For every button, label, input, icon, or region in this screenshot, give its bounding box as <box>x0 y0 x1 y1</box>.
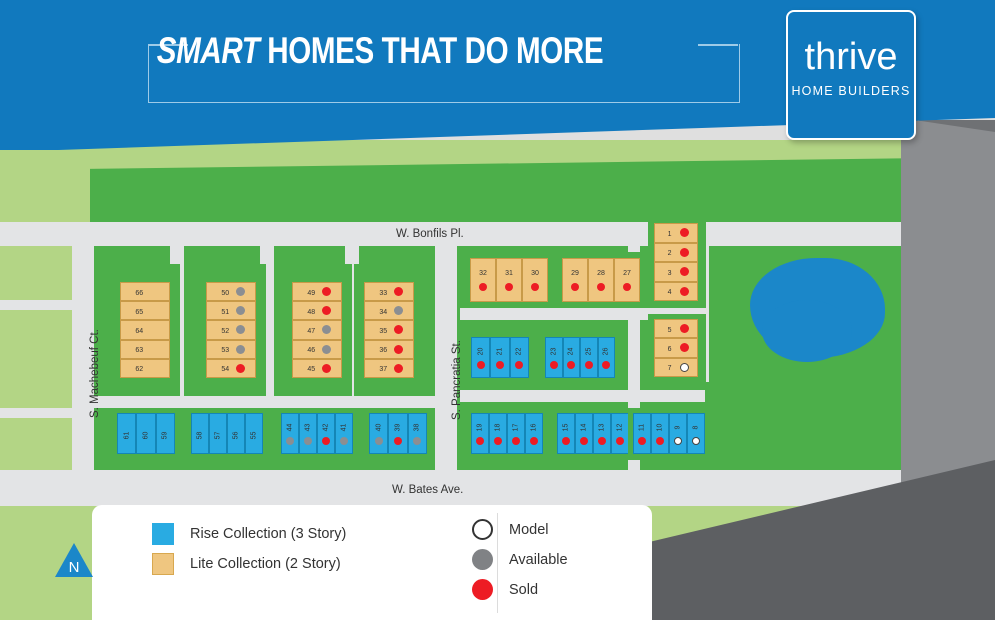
lot-number-33: 33 <box>379 290 387 297</box>
lot-7[interactable]: 7 <box>654 358 698 377</box>
lot-block-e: 323130 <box>464 252 554 308</box>
legend-item-sold: Sold <box>472 579 538 600</box>
alley-west-2 <box>0 408 74 418</box>
alley-6 <box>460 390 705 402</box>
lot-status-sold-48 <box>322 306 331 315</box>
lot-number-14: 14 <box>581 424 588 432</box>
lot-59[interactable]: 59 <box>156 413 175 454</box>
lot-number-35: 35 <box>379 328 387 335</box>
lot-number-66: 66 <box>135 290 143 297</box>
lot-number-45: 45 <box>307 366 315 373</box>
lot-number-58: 58 <box>197 431 204 439</box>
lot-number-60: 60 <box>142 431 149 439</box>
lot-14[interactable]: 14 <box>575 413 593 454</box>
lot-number-24: 24 <box>568 348 575 356</box>
lot-34[interactable]: 34 <box>364 301 414 320</box>
lot-number-1: 1 <box>668 231 672 238</box>
lot-47[interactable]: 47 <box>292 320 342 339</box>
lot-number-17: 17 <box>513 424 520 432</box>
lot-block-l: 58575655 <box>186 408 268 460</box>
lot-number-16: 16 <box>531 424 538 432</box>
alley-4 <box>88 396 438 408</box>
street-label-bates: W. Bates Ave. <box>392 484 463 496</box>
lot-block-k: 616059 <box>112 408 180 460</box>
lot-number-44: 44 <box>287 424 294 432</box>
lot-63[interactable]: 63 <box>120 340 170 359</box>
lot-56[interactable]: 56 <box>227 413 245 454</box>
lot-52[interactable]: 52 <box>206 320 256 339</box>
lot-status-sold-42 <box>322 437 330 445</box>
lot-number-46: 46 <box>307 347 315 354</box>
lot-status-sold-15 <box>562 437 570 445</box>
lot-11[interactable]: 11 <box>633 413 651 454</box>
lot-status-sold-22 <box>515 361 523 369</box>
lot-30[interactable]: 30 <box>522 258 548 302</box>
lot-block-q: 111098 <box>628 408 710 460</box>
lot-block-j: 23242526 <box>540 332 620 384</box>
lot-status-sold-5 <box>680 324 689 333</box>
lot-status-sold-32 <box>479 283 487 291</box>
lot-26[interactable]: 26 <box>598 337 616 378</box>
lot-number-2: 2 <box>668 250 672 257</box>
lot-column-d: 3334353637 <box>364 282 414 378</box>
lot-block-c: 4948474645 <box>282 264 352 396</box>
lot-status-avail-41 <box>340 437 348 445</box>
road-bonfils <box>0 222 930 246</box>
lot-status-sold-28 <box>597 283 605 291</box>
lot-number-15: 15 <box>563 424 570 432</box>
lot-5[interactable]: 5 <box>654 319 698 338</box>
lot-number-9: 9 <box>675 426 682 430</box>
lot-1[interactable]: 1 <box>654 223 698 243</box>
lot-status-sold-13 <box>598 437 606 445</box>
lot-4[interactable]: 4 <box>654 282 698 302</box>
lot-number-3: 3 <box>668 270 672 277</box>
lot-36[interactable]: 36 <box>364 340 414 359</box>
lot-27[interactable]: 27 <box>614 258 640 302</box>
page-title: SMART HOMES THAT DO MORE <box>76 30 684 72</box>
legend-item-model: Model <box>472 519 549 540</box>
legend-item-lite: Lite Collection (2 Story) <box>152 553 341 575</box>
lot-29[interactable]: 29 <box>562 258 588 302</box>
lot-status-sold-29 <box>571 283 579 291</box>
lot-32[interactable]: 32 <box>470 258 496 302</box>
lot-status-avail-38 <box>413 437 421 445</box>
lot-20[interactable]: 20 <box>471 337 490 378</box>
lot-block-n: 403938 <box>364 408 432 460</box>
lot-number-20: 20 <box>477 348 484 356</box>
site-map: W. Bonfils Pl. W. Bates Ave. S. Machebeu… <box>0 0 995 620</box>
lot-40[interactable]: 40 <box>369 413 388 454</box>
available-label: Available <box>509 552 568 568</box>
lot-31[interactable]: 31 <box>496 258 522 302</box>
lot-12[interactable]: 12 <box>611 413 629 454</box>
title-rule-right <box>698 44 738 46</box>
lot-number-40: 40 <box>375 424 382 432</box>
lot-number-55: 55 <box>251 431 258 439</box>
lot-status-sold-11 <box>638 437 646 445</box>
lot-24[interactable]: 24 <box>563 337 581 378</box>
lot-block-a: 6665646362 <box>110 264 180 396</box>
lot-status-sold-17 <box>512 437 520 445</box>
page-title-rest: HOMES THAT DO MORE <box>259 30 603 71</box>
lot-number-13: 13 <box>599 424 606 432</box>
sold-dot-icon <box>472 579 493 600</box>
lot-column-h: 567 <box>654 319 698 377</box>
lot-33[interactable]: 33 <box>364 282 414 301</box>
lot-number-26: 26 <box>603 348 610 356</box>
lot-status-sold-31 <box>505 283 513 291</box>
lot-status-model-9 <box>674 437 682 445</box>
lot-number-61: 61 <box>123 431 130 439</box>
lot-status-sold-39 <box>394 437 402 445</box>
lot-38[interactable]: 38 <box>408 413 427 454</box>
lot-row-j: 23242526 <box>545 337 615 378</box>
lot-row-n: 403938 <box>369 413 427 454</box>
lot-66[interactable]: 66 <box>120 282 170 301</box>
lot-status-avail-46 <box>322 345 331 354</box>
lot-55[interactable]: 55 <box>245 413 263 454</box>
lot-block-g: 1234 <box>648 218 706 308</box>
lot-number-34: 34 <box>379 309 387 316</box>
street-label-pancratia: S. Pancratia St. <box>451 340 463 420</box>
lot-54[interactable]: 54 <box>206 359 256 378</box>
lot-number-38: 38 <box>414 424 421 432</box>
lot-row-k: 616059 <box>117 413 175 454</box>
lot-2[interactable]: 2 <box>654 243 698 263</box>
lot-number-30: 30 <box>531 270 539 277</box>
lot-8[interactable]: 8 <box>687 413 705 454</box>
lot-37[interactable]: 37 <box>364 359 414 378</box>
lot-number-47: 47 <box>307 328 315 335</box>
lot-status-sold-54 <box>236 364 245 373</box>
lot-status-avail-44 <box>286 437 294 445</box>
lot-status-sold-30 <box>531 283 539 291</box>
lot-49[interactable]: 49 <box>292 282 342 301</box>
lot-19[interactable]: 19 <box>471 413 489 454</box>
lot-number-8: 8 <box>693 426 700 430</box>
lot-status-sold-16 <box>530 437 538 445</box>
lot-6[interactable]: 6 <box>654 338 698 357</box>
lot-row-q: 111098 <box>633 413 705 454</box>
lot-39[interactable]: 39 <box>388 413 407 454</box>
available-dot-icon <box>472 549 493 570</box>
alley-west-1 <box>0 300 74 310</box>
lot-column-g: 1234 <box>654 223 698 301</box>
lot-status-sold-4 <box>680 287 689 296</box>
lot-number-7: 7 <box>668 365 672 372</box>
lot-58[interactable]: 58 <box>191 413 209 454</box>
lot-status-sold-18 <box>494 437 502 445</box>
lot-number-12: 12 <box>617 424 624 432</box>
lot-status-sold-49 <box>322 287 331 296</box>
lot-53[interactable]: 53 <box>206 340 256 359</box>
lot-status-sold-35 <box>394 325 403 334</box>
lot-number-62: 62 <box>135 366 143 373</box>
lot-row-e: 323130 <box>470 258 548 302</box>
pond-water-lobe <box>762 300 852 362</box>
lot-21[interactable]: 21 <box>490 337 509 378</box>
lot-60[interactable]: 60 <box>136 413 155 454</box>
lot-status-sold-25 <box>585 361 593 369</box>
lot-42[interactable]: 42 <box>317 413 335 454</box>
lot-28[interactable]: 28 <box>588 258 614 302</box>
lot-number-41: 41 <box>341 424 348 432</box>
lot-number-56: 56 <box>233 431 240 439</box>
lot-column-a: 6665646362 <box>120 282 170 378</box>
lot-row-p: 15141312 <box>557 413 629 454</box>
lot-block-p: 15141312 <box>552 408 634 460</box>
lot-number-19: 19 <box>477 424 484 432</box>
lot-status-sold-14 <box>580 437 588 445</box>
lot-number-49: 49 <box>307 290 315 297</box>
lot-number-52: 52 <box>221 328 229 335</box>
lot-status-avail-47 <box>322 325 331 334</box>
lite-collection-swatch <box>152 553 174 575</box>
lot-18[interactable]: 18 <box>489 413 507 454</box>
rise-collection-swatch <box>152 523 174 545</box>
lot-number-4: 4 <box>668 289 672 296</box>
lot-9[interactable]: 9 <box>669 413 687 454</box>
lot-25[interactable]: 25 <box>580 337 598 378</box>
lot-status-sold-37 <box>394 364 403 373</box>
lot-number-23: 23 <box>550 348 557 356</box>
lot-22[interactable]: 22 <box>510 337 529 378</box>
lot-status-sold-2 <box>680 248 689 257</box>
lot-status-sold-3 <box>680 267 689 276</box>
lot-57[interactable]: 57 <box>209 413 227 454</box>
model-label: Model <box>509 522 549 538</box>
lot-number-6: 6 <box>668 346 672 353</box>
lot-50[interactable]: 50 <box>206 282 256 301</box>
page-title-emphasis: SMART <box>157 30 260 71</box>
lot-row-m: 44434241 <box>281 413 353 454</box>
lot-number-11: 11 <box>639 424 646 431</box>
lot-number-36: 36 <box>379 347 387 354</box>
lot-65[interactable]: 65 <box>120 301 170 320</box>
lot-45[interactable]: 45 <box>292 359 342 378</box>
lot-62[interactable]: 62 <box>120 359 170 378</box>
lot-number-57: 57 <box>215 431 222 439</box>
lot-number-65: 65 <box>135 309 143 316</box>
lot-column-b: 5051525354 <box>206 282 256 378</box>
lot-46[interactable]: 46 <box>292 340 342 359</box>
lot-status-sold-23 <box>550 361 558 369</box>
lot-block-h: 567 <box>648 314 706 384</box>
lot-number-25: 25 <box>585 348 592 356</box>
lot-status-sold-27 <box>623 283 631 291</box>
road-bates <box>0 470 930 506</box>
lot-block-o: 19181716 <box>466 408 548 460</box>
lot-status-sold-26 <box>602 361 610 369</box>
lot-number-54: 54 <box>221 366 229 373</box>
lot-status-avail-52 <box>236 325 245 334</box>
lot-status-avail-43 <box>304 437 312 445</box>
lot-15[interactable]: 15 <box>557 413 575 454</box>
lot-block-i: 202122 <box>466 332 534 384</box>
lot-number-42: 42 <box>323 424 330 432</box>
lot-48[interactable]: 48 <box>292 301 342 320</box>
lot-number-29: 29 <box>571 270 579 277</box>
lot-block-f: 292827 <box>556 252 646 308</box>
lot-43[interactable]: 43 <box>299 413 317 454</box>
lot-number-32: 32 <box>479 270 487 277</box>
lot-16[interactable]: 16 <box>525 413 543 454</box>
lot-number-37: 37 <box>379 366 387 373</box>
lot-status-avail-53 <box>236 345 245 354</box>
lot-number-48: 48 <box>307 309 315 316</box>
lot-3[interactable]: 3 <box>654 262 698 282</box>
lot-status-sold-20 <box>477 361 485 369</box>
lot-number-28: 28 <box>597 270 605 277</box>
lot-status-sold-1 <box>680 228 689 237</box>
legend-item-available: Available <box>472 549 568 570</box>
lot-row-l: 58575655 <box>191 413 263 454</box>
lot-17[interactable]: 17 <box>507 413 525 454</box>
lot-status-sold-6 <box>680 343 689 352</box>
lot-status-sold-33 <box>394 287 403 296</box>
lot-41[interactable]: 41 <box>335 413 353 454</box>
lot-number-5: 5 <box>668 327 672 334</box>
lot-status-sold-45 <box>322 364 331 373</box>
lot-number-50: 50 <box>221 290 229 297</box>
lot-number-59: 59 <box>162 431 169 439</box>
lot-block-b: 5051525354 <box>196 264 266 396</box>
lot-13[interactable]: 13 <box>593 413 611 454</box>
lot-number-64: 64 <box>135 328 143 335</box>
lot-status-model-7 <box>680 363 689 372</box>
lot-status-sold-36 <box>394 345 403 354</box>
lot-44[interactable]: 44 <box>281 413 299 454</box>
lot-35[interactable]: 35 <box>364 320 414 339</box>
lot-status-sold-21 <box>496 361 504 369</box>
lot-status-model-8 <box>692 437 700 445</box>
lot-61[interactable]: 61 <box>117 413 136 454</box>
lot-row-f: 292827 <box>562 258 640 302</box>
lot-block-m: 44434241 <box>276 408 358 460</box>
legend-panel: Rise Collection (3 Story) Lite Collectio… <box>92 505 652 620</box>
rise-collection-label: Rise Collection (3 Story) <box>190 526 346 542</box>
lot-status-sold-24 <box>567 361 575 369</box>
street-label-bonfils: W. Bonfils Pl. <box>396 228 464 240</box>
lot-column-c: 4948474645 <box>292 282 342 378</box>
lot-number-63: 63 <box>135 347 143 354</box>
lot-number-31: 31 <box>505 270 513 277</box>
lot-status-avail-34 <box>394 306 403 315</box>
lot-number-18: 18 <box>495 424 502 432</box>
lot-number-39: 39 <box>394 424 401 432</box>
lot-number-21: 21 <box>496 348 503 356</box>
lot-number-22: 22 <box>516 348 523 356</box>
lot-number-27: 27 <box>623 270 631 277</box>
lot-23[interactable]: 23 <box>545 337 563 378</box>
lot-number-43: 43 <box>305 424 312 432</box>
north-arrow-label: N <box>55 559 93 576</box>
lot-10[interactable]: 10 <box>651 413 669 454</box>
model-dot-icon <box>472 519 493 540</box>
logo-brand-text: thrive <box>788 38 914 76</box>
lot-64[interactable]: 64 <box>120 320 170 339</box>
lot-status-avail-50 <box>236 287 245 296</box>
lot-51[interactable]: 51 <box>206 301 256 320</box>
lot-row-o: 19181716 <box>471 413 543 454</box>
lot-status-avail-51 <box>236 306 245 315</box>
lot-block-d: 3334353637 <box>354 264 424 396</box>
thrive-logo[interactable]: thrive HOME BUILDERS <box>786 10 916 140</box>
lot-number-10: 10 <box>657 424 664 432</box>
lite-collection-label: Lite Collection (2 Story) <box>190 556 341 572</box>
street-label-machebeuf: S. Machebeuf Ct. <box>89 329 101 418</box>
legend-item-rise: Rise Collection (3 Story) <box>152 523 346 545</box>
lot-status-sold-12 <box>616 437 624 445</box>
lot-number-51: 51 <box>221 309 229 316</box>
lot-row-i: 202122 <box>471 337 529 378</box>
lot-status-sold-10 <box>656 437 664 445</box>
logo-tagline-text: HOME BUILDERS <box>788 84 914 98</box>
sold-label: Sold <box>509 582 538 598</box>
lot-status-avail-40 <box>375 437 383 445</box>
lot-number-53: 53 <box>221 347 229 354</box>
lot-status-sold-19 <box>476 437 484 445</box>
